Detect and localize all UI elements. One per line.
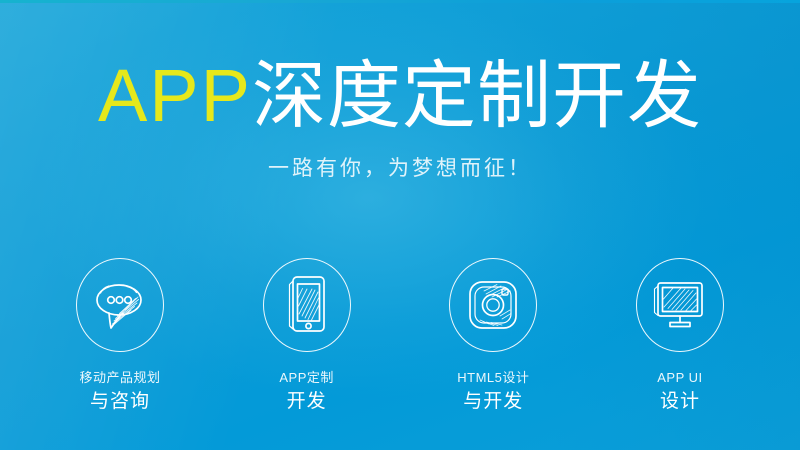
service-label-top: APP定制	[279, 370, 334, 386]
service-label-consulting: 移动产品规划 与咨询	[79, 370, 160, 414]
service-label-bottom: 开发	[279, 390, 334, 414]
service-label-html5: HTML5设计 与开发	[457, 370, 529, 414]
camera-icon	[464, 276, 522, 334]
title-highlight: APP	[98, 54, 252, 137]
service-label-bottom: 与咨询	[79, 390, 160, 414]
page-subtitle: 一路有你，为梦想而征！	[0, 152, 800, 182]
service-item-html5[interactable]: HTML5设计 与开发	[428, 258, 558, 414]
service-label-ui-design: APP UI 设计	[657, 370, 702, 414]
service-label-bottom: 与开发	[457, 390, 529, 414]
speech-bubble-icon	[91, 277, 149, 333]
top-accent-line	[0, 0, 800, 3]
monitor-icon-circle	[636, 258, 724, 352]
page-title: APP深度定制开发	[0, 55, 800, 137]
promo-banner: APP深度定制开发 一路有你，为梦想而征！	[0, 0, 800, 450]
service-item-ui-design[interactable]: APP UI 设计	[615, 258, 745, 414]
speech-bubble-icon-circle	[76, 258, 164, 352]
monitor-icon	[650, 277, 710, 333]
tablet-icon	[283, 274, 331, 336]
service-label-top: 移动产品规划	[79, 370, 160, 386]
service-label-top: APP UI	[657, 370, 702, 386]
service-item-app-development[interactable]: APP定制 开发	[242, 258, 372, 414]
service-label-bottom: 设计	[657, 390, 702, 414]
camera-icon-circle	[449, 258, 537, 352]
service-item-consulting[interactable]: 移动产品规划 与咨询	[55, 258, 185, 414]
service-label-app-development: APP定制 开发	[279, 370, 334, 414]
title-rest: 深度定制开发	[252, 54, 702, 137]
service-label-top: HTML5设计	[457, 370, 529, 386]
tablet-icon-circle	[263, 258, 351, 352]
services-row: 移动产品规划 与咨询	[0, 258, 800, 414]
